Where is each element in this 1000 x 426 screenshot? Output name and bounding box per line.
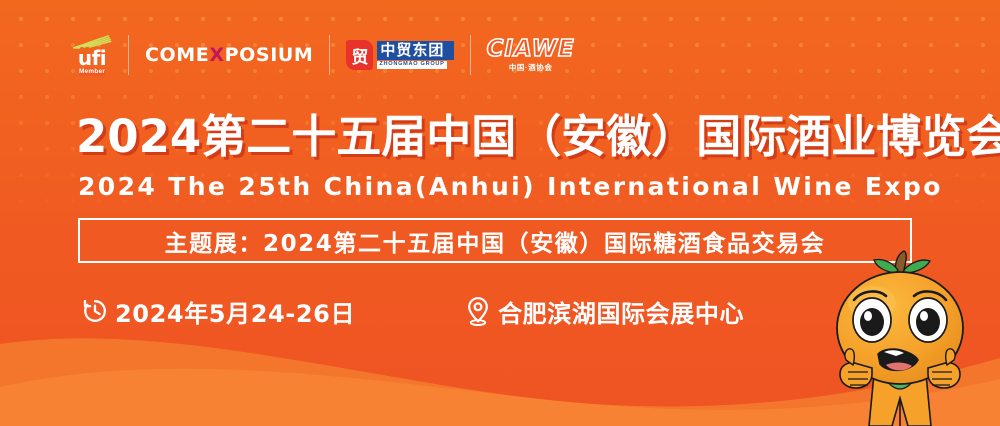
- sponsor-logo-strip: ufi Member COMEXPOSIUM 贸 中贸东团® ZHONGMAO …: [72, 28, 575, 82]
- logo-divider-2: [329, 35, 330, 75]
- logo-comexposium-wordmark: COMEXPOSIUM: [145, 44, 313, 66]
- mascot-leaf-left: [874, 259, 898, 273]
- logo-ciawe-tagline: 中国·酒协会: [509, 62, 553, 73]
- logo-divider-3: [470, 35, 471, 75]
- logo-ufi-tagline: Member: [79, 68, 105, 76]
- zhongmao-mark-icon: 贸: [346, 40, 373, 70]
- logo-ciawe-wordmark: CIAWE: [487, 38, 575, 61]
- mascot-leaf-right: [904, 260, 930, 273]
- page-title-cn: 2024第二十五届中国（安徽）国际酒业博览会: [76, 113, 956, 162]
- event-venue-item: 合肥滨湖国际会展中心: [465, 294, 744, 329]
- clock-icon: [82, 298, 108, 324]
- event-banner: ufi Member COMEXPOSIUM 贸 中贸东团® ZHONGMAO …: [0, 0, 1000, 426]
- theme-exhibition-box: 主题展：2024第二十五届中国（安徽）国际糖酒食品交易会: [78, 218, 912, 263]
- logo-ciawe[interactable]: CIAWE 中国·酒协会: [487, 28, 575, 82]
- logo-divider-1: [128, 35, 129, 75]
- logo-comexposium[interactable]: COMEXPOSIUM: [145, 28, 313, 82]
- logo-ufi-wordmark: ufi: [78, 49, 106, 68]
- logo-ufi[interactable]: ufi Member: [72, 28, 112, 82]
- page-title-en: 2024 The 25th China(Anhui) International…: [78, 172, 968, 201]
- zhongmao-wordmark-en: ZHONGMAO GROUP: [377, 61, 446, 69]
- logo-zhongmao-group[interactable]: 贸 中贸东团® ZHONGMAO GROUP: [346, 28, 453, 82]
- event-info-row: 2024年5月24-26日 合肥滨湖国际会展中心: [82, 294, 744, 328]
- comex-x-glyph: X: [209, 44, 224, 66]
- mascot-eye-right: [909, 298, 947, 342]
- event-date-item: 2024年5月24-26日: [82, 294, 355, 329]
- zhongmao-registered-mark: ®: [444, 44, 450, 51]
- zhongmao-cn-text: 中贸东团: [380, 42, 444, 59]
- orange-mascot: [800, 248, 1000, 426]
- theme-exhibition-label: 主题展：2024第二十五届中国（安徽）国际糖酒食品交易会: [165, 224, 826, 258]
- event-date-text: 2024年5月24-26日: [115, 294, 355, 329]
- comex-part1: COME: [145, 44, 209, 66]
- comex-part2: POSIUM: [225, 44, 314, 66]
- mascot-eye-left: [853, 298, 891, 342]
- event-venue-text: 合肥滨湖国际会展中心: [498, 294, 744, 329]
- zhongmao-wordmark-cn: 中贸东团®: [377, 41, 453, 60]
- location-pin-icon: [465, 296, 491, 326]
- zhongmao-wordmark-group: 中贸东团® ZHONGMAO GROUP: [377, 41, 453, 69]
